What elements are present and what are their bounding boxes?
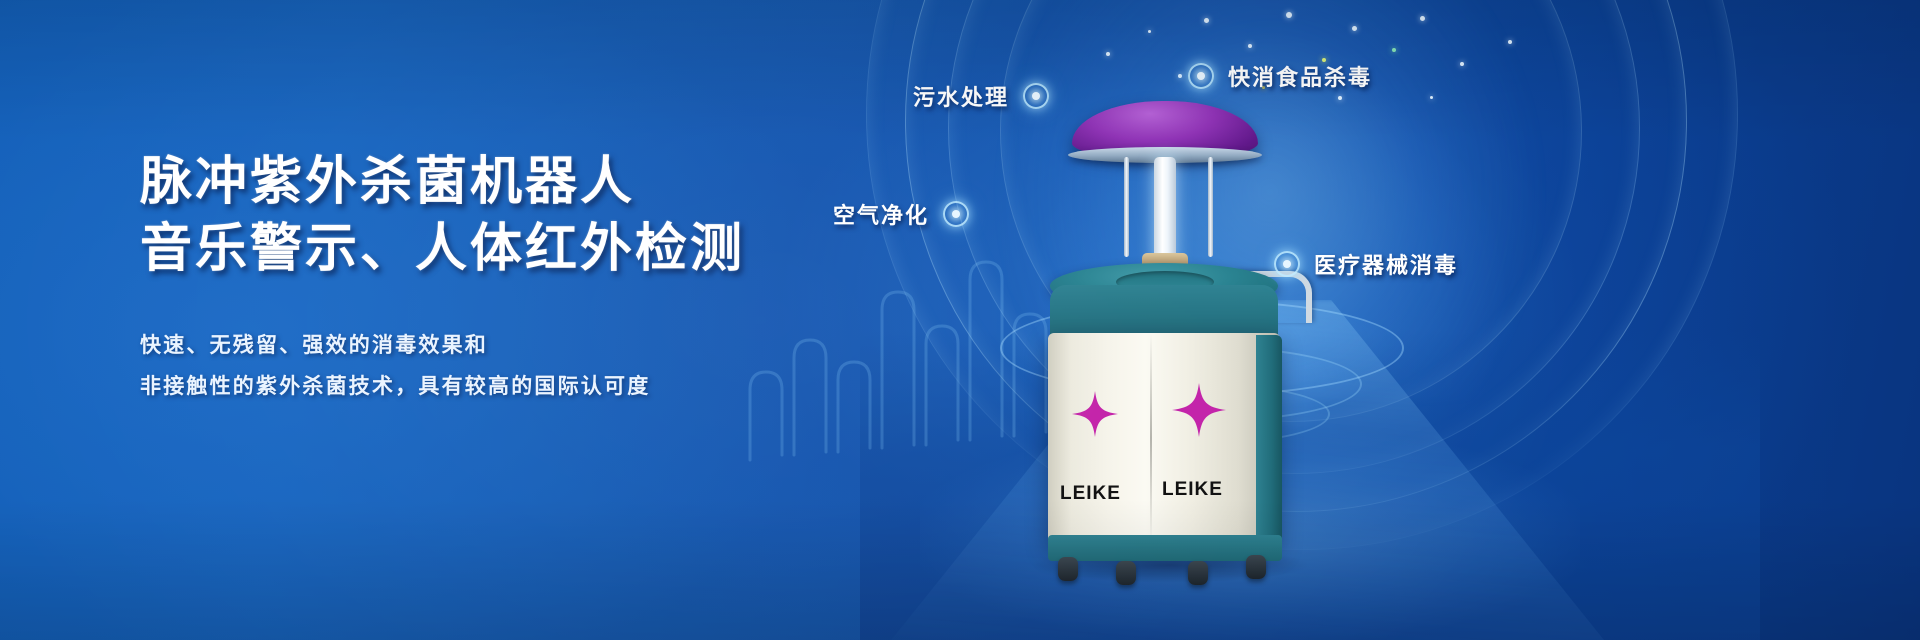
feature-callout-wastewater[interactable]: 污水处理 — [913, 80, 1049, 112]
node-marker-icon — [1274, 251, 1300, 277]
feature-callout-medical-device-sterilization[interactable]: 医疗器械消毒 — [1274, 248, 1458, 280]
particle — [1508, 40, 1512, 44]
uv-lamp-tube — [1154, 157, 1176, 265]
particle — [1178, 74, 1182, 78]
particle — [1460, 62, 1464, 66]
lamp-support-rod — [1124, 157, 1129, 257]
subcopy-line-2: 非接触性的紫外杀菌技术，具有较高的国际认可度 — [140, 366, 860, 407]
particle — [1338, 96, 1342, 100]
node-marker-icon — [943, 201, 969, 227]
caster-wheel — [1116, 561, 1136, 585]
particle — [1248, 44, 1252, 48]
uv-disinfection-robot: LEIKE LEIKE — [1020, 95, 1320, 515]
banner-copy: 脉冲紫外杀菌机器人 音乐警示、人体红外检测 快速、无残留、强效的消毒效果和 非接… — [140, 150, 860, 407]
brand-label-right: LEIKE — [1162, 479, 1223, 501]
headline-line-2: 音乐警示、人体红外检测 — [140, 217, 860, 284]
brand-star-icon — [1072, 391, 1118, 437]
promo-banner: LEIKE LEIKE 污水处理 空气净化 快消食品杀毒 医疗器械消毒 脉冲紫外… — [0, 0, 1920, 640]
headline-line-1: 脉冲紫外杀菌机器人 — [140, 150, 860, 217]
device-body — [1048, 333, 1280, 543]
node-marker-icon — [1023, 83, 1049, 109]
device-body-edge — [1150, 333, 1152, 543]
particle — [1420, 16, 1425, 21]
device-body-side-panel — [1256, 335, 1282, 543]
particle — [1392, 48, 1396, 52]
feature-label: 污水处理 — [913, 80, 1009, 112]
particle — [1148, 30, 1151, 33]
caster-wheel — [1188, 561, 1208, 585]
feature-label: 医疗器械消毒 — [1314, 248, 1458, 280]
subcopy-line-1: 快速、无残留、强效的消毒效果和 — [140, 325, 860, 366]
feature-callout-food-disinfection[interactable]: 快消食品杀毒 — [1188, 60, 1372, 92]
particle — [1286, 12, 1292, 18]
caster-wheel — [1058, 557, 1078, 581]
feature-label: 快消食品杀毒 — [1228, 60, 1372, 92]
node-marker-icon — [1188, 63, 1214, 89]
brand-label-left: LEIKE — [1060, 483, 1121, 505]
particle — [1106, 52, 1110, 56]
particle — [1430, 96, 1433, 99]
banner-subcopy: 快速、无残留、强效的消毒效果和 非接触性的紫外杀菌技术，具有较高的国际认可度 — [140, 325, 860, 407]
particle — [1352, 26, 1357, 31]
caster-wheel — [1246, 555, 1266, 579]
lamp-support-rod — [1208, 157, 1213, 257]
particle — [1204, 18, 1209, 23]
brand-star-icon — [1172, 383, 1226, 437]
